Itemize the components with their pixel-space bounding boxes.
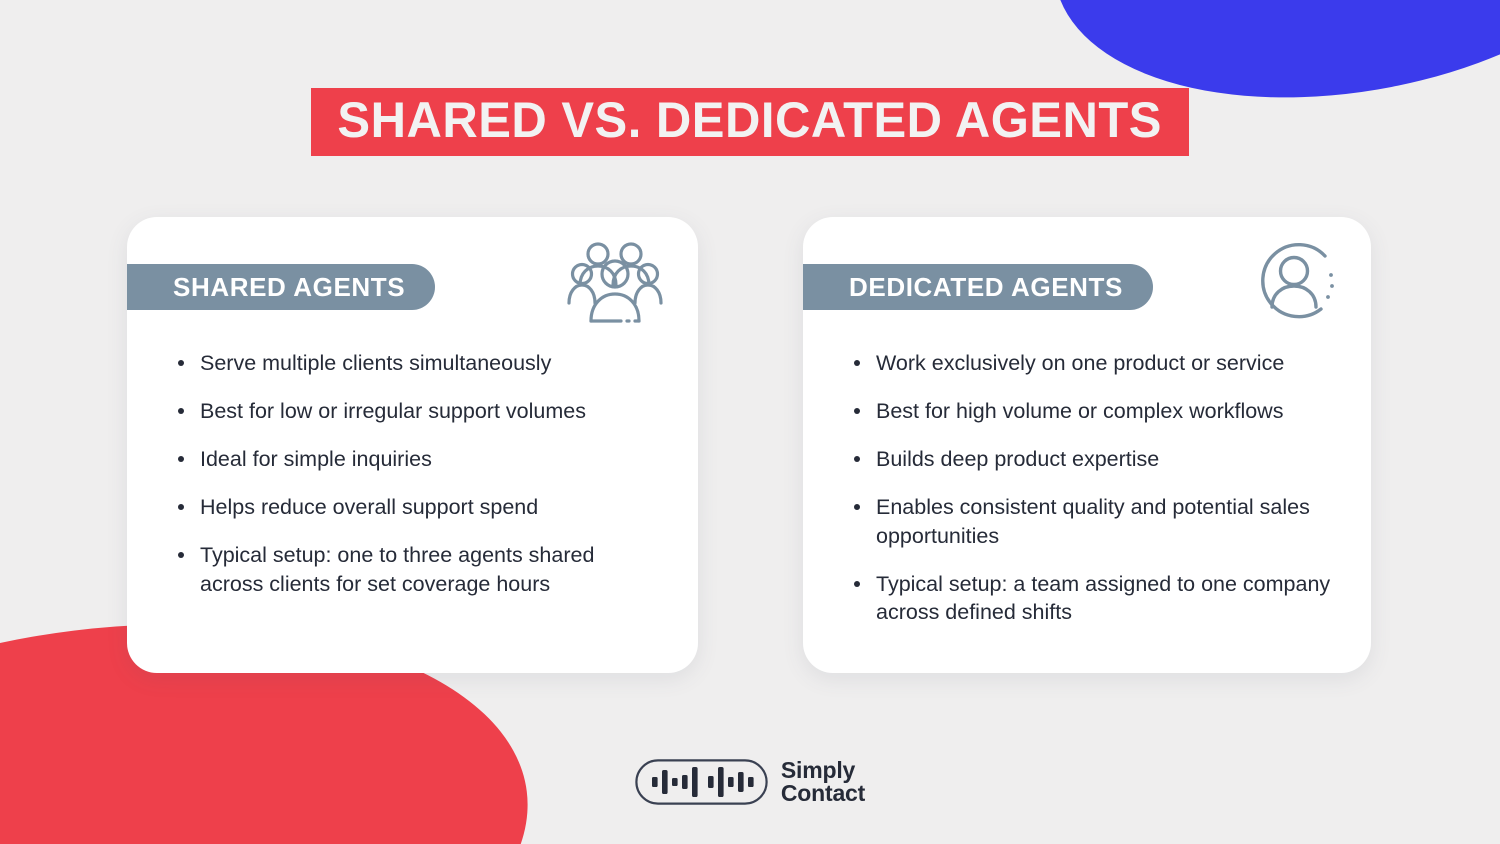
list-item: Typical setup: a team assigned to one co… bbox=[851, 570, 1335, 627]
list-item: Best for high volume or complex workflow… bbox=[851, 397, 1335, 426]
single-person-in-circle-icon bbox=[1251, 239, 1347, 323]
list-item: Builds deep product expertise bbox=[851, 445, 1335, 474]
card-shared-agents: SHARED AGENTS bbox=[127, 217, 698, 673]
title-banner: SHARED VS. DEDICATED AGENTS bbox=[311, 88, 1188, 156]
brand-logo: Simply Contact bbox=[0, 759, 1500, 805]
card-shared-heading-pill: SHARED AGENTS bbox=[127, 264, 435, 310]
card-dedicated-heading-text: DEDICATED AGENTS bbox=[849, 274, 1123, 300]
card-dedicated-bullet-list: Work exclusively on one product or servi… bbox=[803, 321, 1371, 627]
card-shared-heading-text: SHARED AGENTS bbox=[173, 274, 405, 300]
card-dedicated-agents: DEDICATED AGENTS Work exclusively o bbox=[803, 217, 1371, 673]
brand-name: Simply Contact bbox=[781, 759, 865, 805]
list-item: Work exclusively on one product or servi… bbox=[851, 349, 1335, 378]
card-shared-bullet-list: Serve multiple clients simultaneously Be… bbox=[127, 321, 698, 598]
list-item: Best for low or irregular support volume… bbox=[175, 397, 658, 426]
group-of-people-icon bbox=[567, 239, 663, 323]
list-item: Typical setup: one to three agents share… bbox=[175, 541, 658, 598]
list-item: Enables consistent quality and potential… bbox=[851, 493, 1335, 550]
list-item: Helps reduce overall support spend bbox=[175, 493, 658, 522]
title-area: SHARED VS. DEDICATED AGENTS bbox=[0, 88, 1500, 156]
card-dedicated-header: DEDICATED AGENTS bbox=[803, 217, 1371, 321]
page-title: SHARED VS. DEDICATED AGENTS bbox=[338, 95, 1163, 145]
brand-name-line2: Contact bbox=[781, 782, 865, 805]
brand-name-line1: Simply bbox=[781, 759, 865, 782]
card-dedicated-heading-pill: DEDICATED AGENTS bbox=[803, 264, 1153, 310]
list-item: Serve multiple clients simultaneously bbox=[175, 349, 658, 378]
list-item: Ideal for simple inquiries bbox=[175, 445, 658, 474]
waveform-in-rounded-rect-icon bbox=[635, 759, 768, 805]
card-shared-header: SHARED AGENTS bbox=[127, 217, 698, 321]
infographic-canvas: SHARED VS. DEDICATED AGENTS SHARED AGENT… bbox=[0, 0, 1500, 844]
